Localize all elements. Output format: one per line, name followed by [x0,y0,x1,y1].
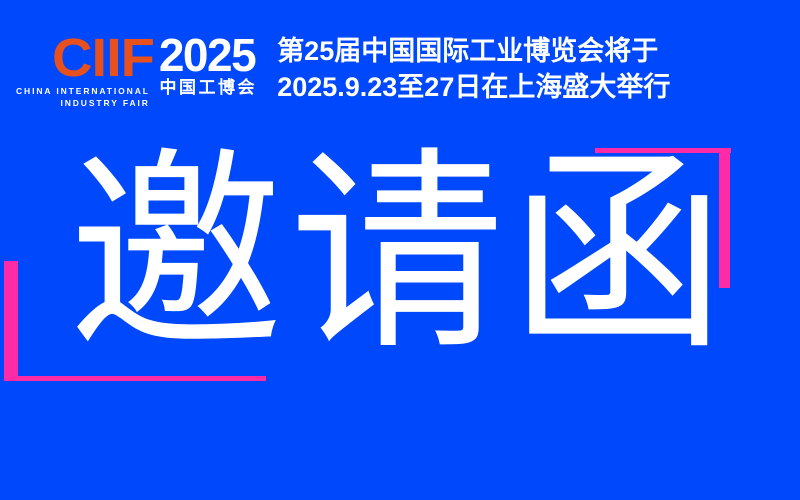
logo-english-name: CHINA INTERNATIONAL INDUSTRY FAIR [16,86,150,109]
logo-year: 2025 [159,34,255,76]
headline-line-2: 2025.9.23至27日在上海盛大举行 [277,70,670,106]
ciif-logo: CIIF CHINA INTERNATIONAL INDUSTRY FAIR 2… [16,30,255,110]
logo-left-block: CIIF CHINA INTERNATIONAL INDUSTRY FAIR [16,30,150,110]
logo-right-block: 2025 中国工博会 [159,30,255,98]
invitation-banner: CIIF CHINA INTERNATIONAL INDUSTRY FAIR 2… [0,0,800,500]
logo-english-line-1: CHINA INTERNATIONAL [16,86,150,98]
headline-line-1: 第25届中国国际工业博览会将于 [277,34,670,70]
logo-chinese-short-name: 中国工博会 [160,79,258,98]
event-headline: 第25届中国国际工业博览会将于 2025.9.23至27日在上海盛大举行 [277,34,670,106]
logo-english-line-2: INDUSTRY FAIR [16,98,150,110]
logo-acronym: CIIF [52,36,154,81]
banner-header: CIIF CHINA INTERNATIONAL INDUSTRY FAIR 2… [0,0,800,140]
main-title: 邀请函 [0,146,800,361]
